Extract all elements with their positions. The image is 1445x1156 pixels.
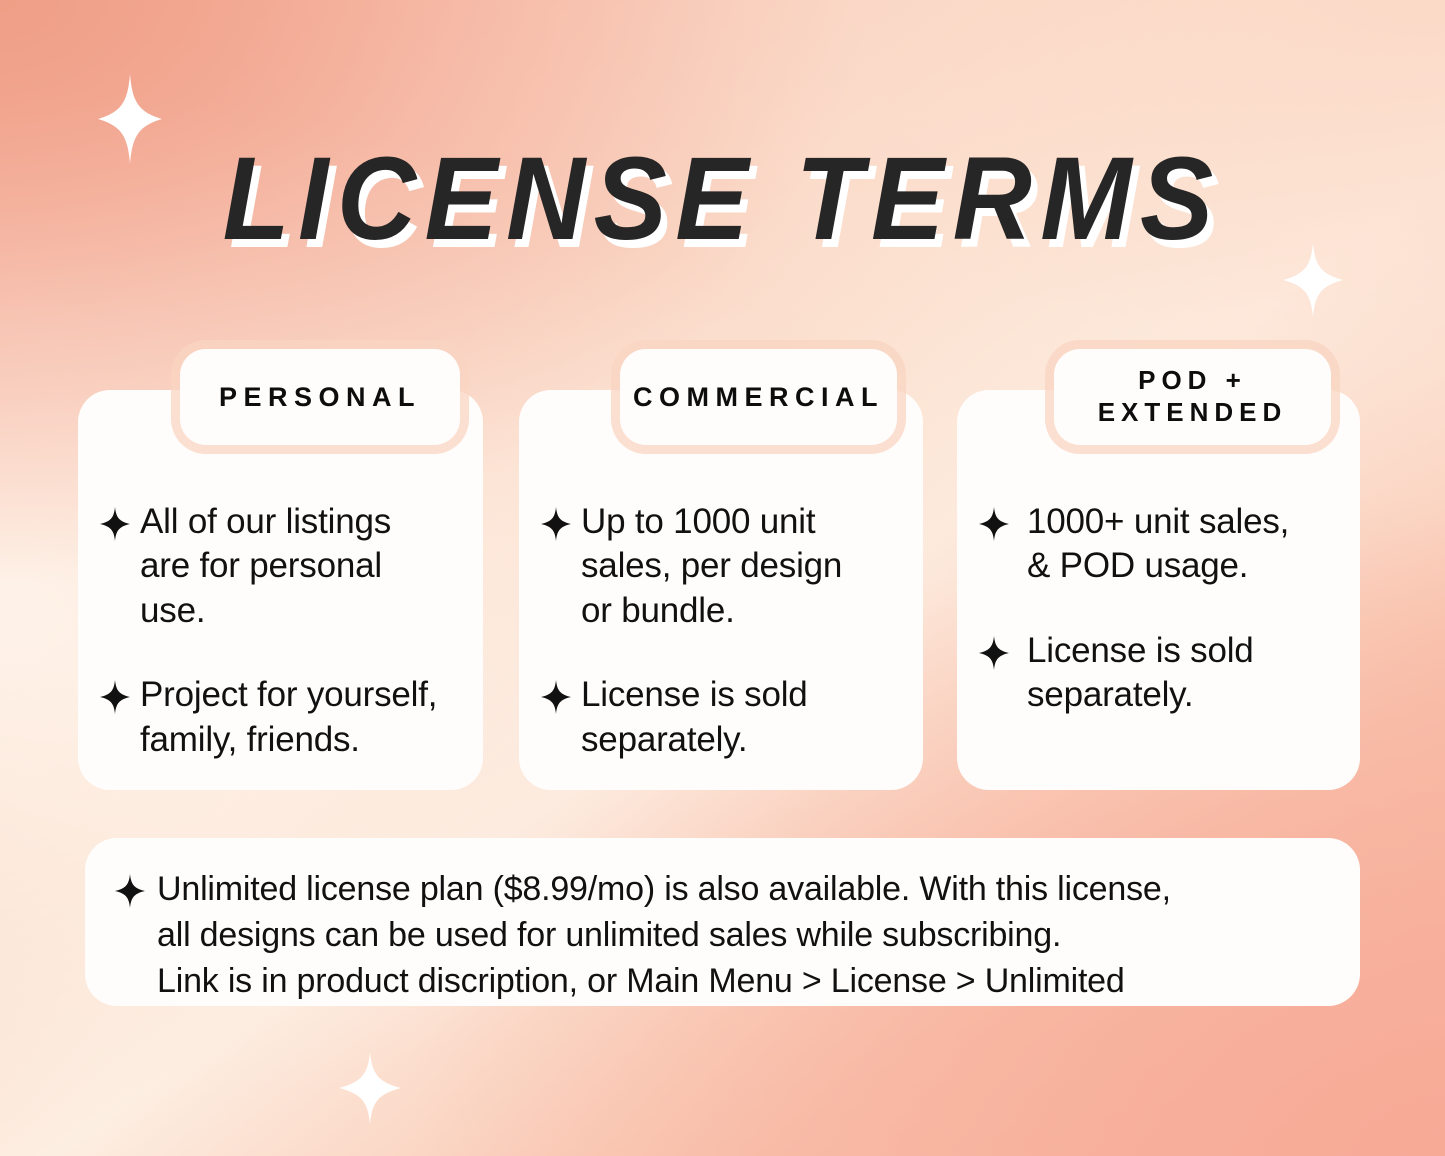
list-item: All of our listings are for personal use… [100, 500, 465, 633]
list-item: Project for yourself, family, friends. [100, 673, 465, 762]
page-title: LICENSE TERMS [223, 140, 1222, 258]
license-card-personal: All of our listings are for personal use… [78, 390, 483, 790]
card-header-personal: PERSONAL [180, 349, 460, 445]
license-card-commercial: Up to 1000 unit sales, per design or bun… [519, 390, 923, 790]
list-item: Unlimited license plan ($8.99/mo) is als… [115, 866, 1330, 1005]
list-item-text: 1000+ unit sales, & POD usage. [1027, 500, 1289, 589]
list-item-text: Up to 1000 unit sales, per design or bun… [581, 500, 842, 633]
license-terms-poster: LICENSE TERMS All of our listings are fo… [0, 0, 1445, 1156]
card-header-label: POD + EXTENDED [1098, 365, 1288, 428]
card-header-label: COMMERCIAL [633, 381, 884, 414]
star-bullet-icon [541, 507, 571, 541]
page-title-container: LICENSE TERMS [0, 140, 1445, 258]
list-item: License is sold separately. [979, 629, 1342, 718]
card-header-pod-extended: POD + EXTENDED [1054, 349, 1331, 445]
star-bullet-icon [100, 507, 130, 541]
star-bullet-icon [100, 680, 130, 714]
unlimited-plan-banner: Unlimited license plan ($8.99/mo) is als… [85, 838, 1360, 1006]
list-item-text: License is sold separately. [1027, 629, 1254, 718]
list-item: 1000+ unit sales, & POD usage. [979, 500, 1342, 589]
card-body: All of our listings are for personal use… [78, 486, 483, 802]
list-item: Up to 1000 unit sales, per design or bun… [541, 500, 905, 633]
license-card-pod-extended: 1000+ unit sales, & POD usage. License i… [957, 390, 1360, 790]
list-item-text: License is sold separately. [581, 673, 808, 762]
card-header-commercial: COMMERCIAL [620, 349, 897, 445]
list-item-text: All of our listings are for personal use… [140, 500, 391, 633]
card-header-label: PERSONAL [219, 381, 421, 414]
card-body: 1000+ unit sales, & POD usage. License i… [957, 486, 1360, 758]
sparkle-icon [339, 1052, 401, 1124]
star-bullet-icon [541, 680, 571, 714]
list-item-text: Project for yourself, family, friends. [140, 673, 437, 762]
banner-text: Unlimited license plan ($8.99/mo) is als… [157, 866, 1171, 1005]
star-bullet-icon [115, 874, 145, 908]
list-item: License is sold separately. [541, 673, 905, 762]
star-bullet-icon [979, 507, 1009, 541]
card-body: Up to 1000 unit sales, per design or bun… [519, 486, 923, 802]
star-bullet-icon [979, 636, 1009, 670]
